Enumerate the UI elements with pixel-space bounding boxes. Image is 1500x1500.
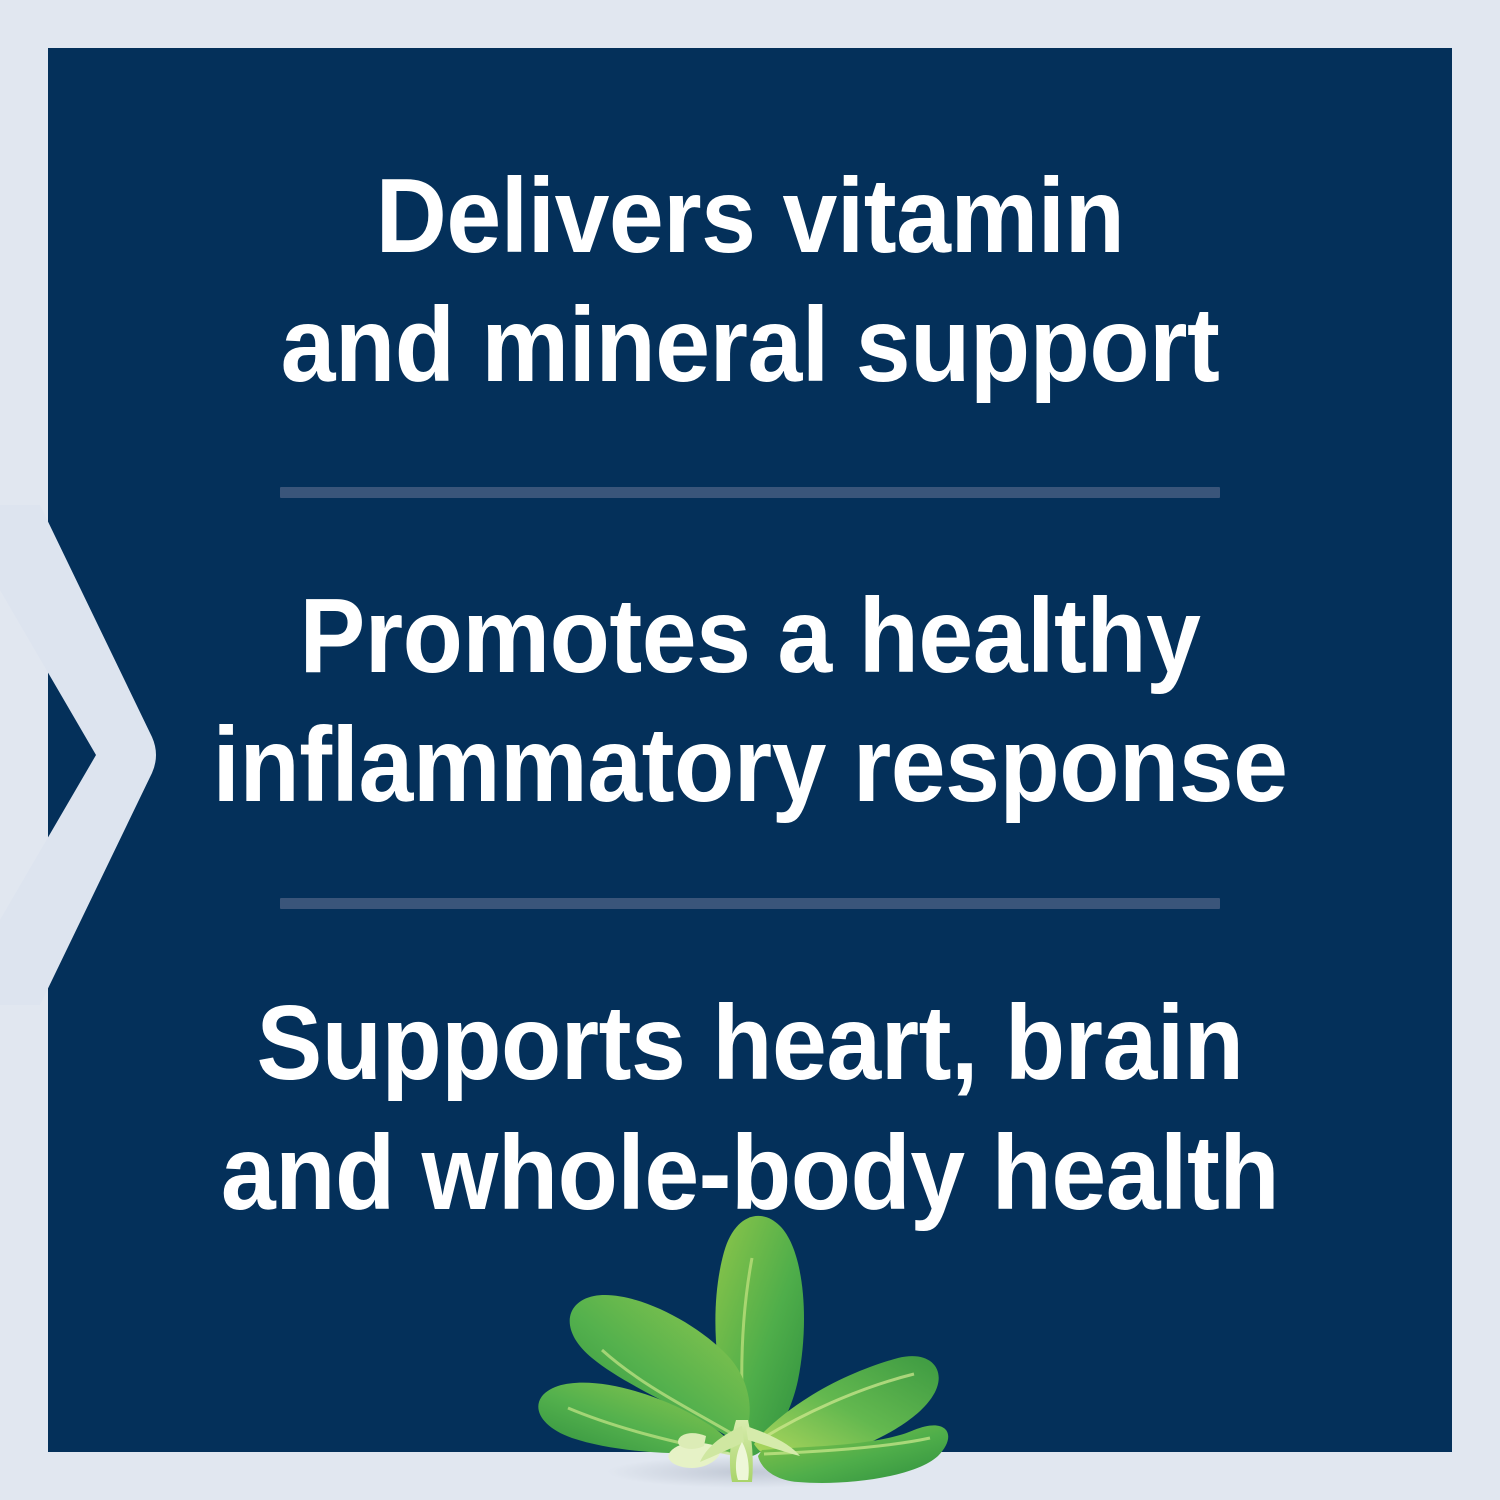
claims-stack: Delivers vitamin and mineral support Pro… (48, 48, 1452, 1452)
divider-1-wrap (48, 487, 1452, 498)
claim-text-heart-brain-health: Supports heart, brain and whole-body hea… (97, 979, 1403, 1238)
divider-1 (280, 487, 1220, 498)
divider-2 (280, 898, 1220, 909)
product-claims-banner: Delivers vitamin and mineral support Pro… (0, 0, 1500, 1500)
claim-text-vitamin-mineral: Delivers vitamin and mineral support (97, 152, 1403, 411)
divider-2-wrap (48, 898, 1452, 909)
claim-text-inflammatory-response: Promotes a healthy inflammatory response (97, 572, 1403, 831)
